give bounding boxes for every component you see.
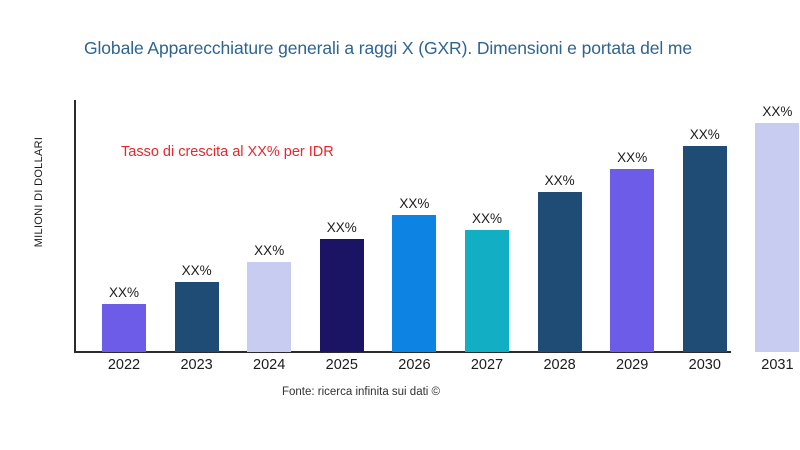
bar-value-label-2028: XX% (545, 173, 575, 188)
plot-area: XX%XX%XX%XX%XX%XX%XX%XX%XX%XX% (74, 100, 800, 352)
bar-value-label-2030: XX% (690, 127, 720, 142)
bar-2027[interactable] (465, 230, 509, 352)
bar-value-label-2027: XX% (472, 211, 502, 226)
bar-2028[interactable] (538, 192, 582, 352)
x-tick-label-2028: 2028 (525, 357, 595, 373)
x-tick-label-2027: 2027 (452, 357, 522, 373)
bar-group: XX% (392, 100, 436, 352)
bar-value-label-2026: XX% (399, 196, 429, 211)
bar-2023[interactable] (175, 282, 219, 352)
x-tick-label-2025: 2025 (307, 357, 377, 373)
bar-2022[interactable] (102, 304, 146, 352)
bar-2026[interactable] (392, 215, 436, 352)
x-tick-label-2022: 2022 (89, 357, 159, 373)
bar-group: XX% (320, 100, 364, 352)
x-tick-label-2030: 2030 (670, 357, 740, 373)
x-tick-label-2023: 2023 (162, 357, 232, 373)
bar-group: XX% (102, 100, 146, 352)
bar-group: XX% (465, 100, 509, 352)
bar-value-label-2031: XX% (762, 104, 792, 119)
bar-value-label-2023: XX% (182, 263, 212, 278)
bar-group: XX% (610, 100, 654, 352)
bar-2030[interactable] (683, 146, 727, 352)
y-axis-label: MILIONI DI DOLLARI (33, 77, 45, 307)
bar-2025[interactable] (320, 239, 364, 352)
bar-chart: Globale Apparecchiature generali a raggi… (0, 0, 800, 450)
bar-2024[interactable] (247, 262, 291, 352)
bar-2029[interactable] (610, 169, 654, 352)
x-tick-label-2031: 2031 (742, 357, 800, 373)
bar-2031[interactable] (755, 123, 799, 352)
source-note: Fonte: ricerca infinita sui dati © (0, 386, 722, 398)
bar-value-label-2024: XX% (254, 243, 284, 258)
x-tick-label-2029: 2029 (597, 357, 667, 373)
bar-value-label-2022: XX% (109, 285, 139, 300)
bar-group: XX% (683, 100, 727, 352)
x-tick-label-2026: 2026 (379, 357, 449, 373)
chart-title: Globale Apparecchiature generali a raggi… (84, 38, 800, 59)
x-tick-label-2024: 2024 (234, 357, 304, 373)
bar-group: XX% (538, 100, 582, 352)
bar-group: XX% (175, 100, 219, 352)
bar-group: XX% (247, 100, 291, 352)
bar-group: XX% (755, 100, 799, 352)
bar-value-label-2025: XX% (327, 220, 357, 235)
bar-value-label-2029: XX% (617, 150, 647, 165)
